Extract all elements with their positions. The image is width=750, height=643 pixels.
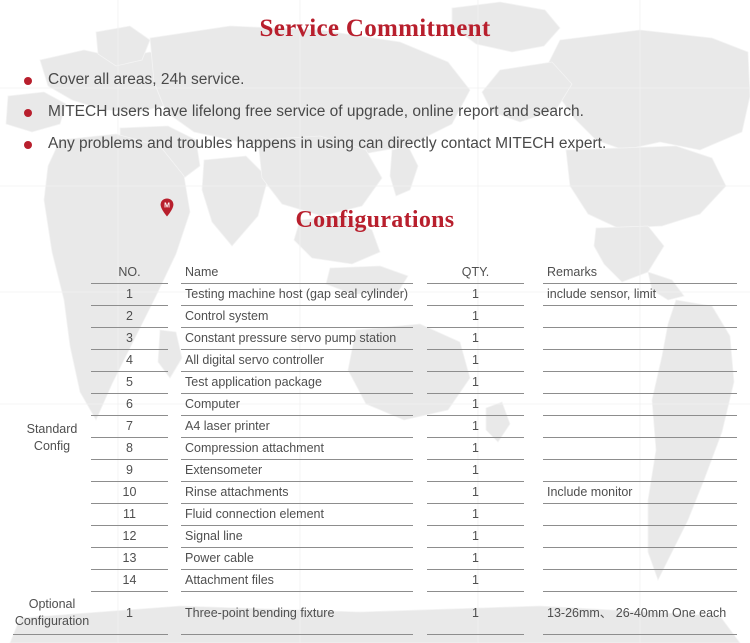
cell-name: Test application package	[181, 372, 413, 394]
spacer	[524, 570, 543, 592]
spacer	[168, 570, 181, 592]
service-commitment-list: Cover all areas, 24h service. MITECH use…	[24, 68, 724, 164]
cell-name: Control system	[181, 306, 413, 328]
spacer	[168, 592, 181, 635]
spacer	[413, 350, 427, 372]
cell-qty: 1	[427, 482, 524, 504]
cell-no: 10	[91, 482, 168, 504]
cell-no: 11	[91, 504, 168, 526]
cell-name: All digital servo controller	[181, 350, 413, 372]
spacer	[168, 504, 181, 526]
cell-qty: 1	[427, 570, 524, 592]
spacer	[524, 592, 543, 635]
spacer	[168, 284, 181, 306]
cell-remarks-text: 13-26mm、 26-40mm One each	[547, 592, 737, 634]
cell-name: Testing machine host (gap seal cylinder)	[181, 284, 413, 306]
column-header-no: NO.	[91, 262, 168, 284]
column-header-group	[13, 262, 91, 284]
list-item: MITECH users have lifelong free service …	[24, 100, 724, 124]
bullet-dot-icon	[24, 109, 32, 117]
spacer	[413, 372, 427, 394]
cell-remarks: Include monitor	[543, 482, 737, 504]
table-header: NO. Name QTY. Remarks	[13, 262, 737, 284]
cell-name: Three-point bending fixture	[181, 592, 413, 635]
spacer	[413, 526, 427, 548]
cell-remarks	[543, 416, 737, 438]
bullet-dot-icon	[24, 77, 32, 85]
cell-qty-text: 1	[427, 394, 524, 415]
spacer	[413, 262, 427, 284]
spacer	[168, 548, 181, 570]
cell-name-text: Fluid connection element	[185, 504, 413, 525]
cell-name: A4 laser printer	[181, 416, 413, 438]
cell-name-text: Control system	[185, 306, 413, 327]
spacer	[413, 306, 427, 328]
cell-no-text: 1	[91, 592, 168, 634]
spacer	[413, 460, 427, 482]
cell-qty: 1	[427, 350, 524, 372]
spacer	[413, 548, 427, 570]
cell-name: Rinse attachments	[181, 482, 413, 504]
cell-qty: 1	[427, 460, 524, 482]
spacer	[168, 372, 181, 394]
cell-no-text: 9	[91, 460, 168, 481]
cell-remarks	[543, 328, 737, 350]
cell-qty-text: 1	[427, 284, 524, 305]
list-item: Cover all areas, 24h service.	[24, 68, 724, 92]
cell-no: 1	[91, 284, 168, 306]
list-item: Any problems and troubles happens in usi…	[24, 132, 724, 156]
row-group-label: StandardConfig	[13, 284, 91, 592]
cell-no-text: 10	[91, 482, 168, 503]
cell-name-text: Rinse attachments	[185, 482, 413, 503]
cell-qty: 1	[427, 394, 524, 416]
table-row: StandardConfig1Testing machine host (gap…	[13, 284, 737, 306]
cell-no-text: 6	[91, 394, 168, 415]
spacer	[524, 372, 543, 394]
cell-remarks	[543, 372, 737, 394]
cell-qty: 1	[427, 284, 524, 306]
cell-remarks	[543, 548, 737, 570]
cell-no: 7	[91, 416, 168, 438]
cell-qty-text: 1	[427, 328, 524, 349]
table-row: OptionalConfiguration1Three-point bendin…	[13, 592, 737, 635]
cell-name: Attachment files	[181, 570, 413, 592]
cell-name-text: All digital servo controller	[185, 350, 413, 371]
cell-no-text: 5	[91, 372, 168, 393]
row-group-label-line2: Configuration	[13, 613, 91, 630]
cell-name-text: Three-point bending fixture	[185, 592, 413, 634]
table-row: 5Test application package1	[13, 372, 737, 394]
cell-name-text: Testing machine host (gap seal cylinder)	[185, 284, 413, 305]
cell-name-text: Signal line	[185, 526, 413, 547]
cell-remarks-text	[547, 548, 737, 569]
spacer	[168, 438, 181, 460]
list-item-text: Any problems and troubles happens in usi…	[48, 135, 606, 152]
spacer	[413, 504, 427, 526]
spacer	[524, 460, 543, 482]
cell-remarks-text	[547, 438, 737, 459]
cell-name: Compression attachment	[181, 438, 413, 460]
cell-no-text: 12	[91, 526, 168, 547]
list-item-text: MITECH users have lifelong free service …	[48, 103, 584, 120]
table-body: StandardConfig1Testing machine host (gap…	[13, 284, 737, 635]
cell-no: 6	[91, 394, 168, 416]
cell-name-text: Compression attachment	[185, 438, 413, 459]
spacer	[524, 394, 543, 416]
spacer	[168, 328, 181, 350]
table-row: 13Power cable1	[13, 548, 737, 570]
spacer	[413, 482, 427, 504]
cell-name-text: Power cable	[185, 548, 413, 569]
cell-qty-text: 1	[427, 548, 524, 569]
cell-remarks	[543, 394, 737, 416]
cell-remarks-text	[547, 394, 737, 415]
spacer	[168, 460, 181, 482]
table-header-row: NO. Name QTY. Remarks	[13, 262, 737, 284]
cell-remarks-text	[547, 526, 737, 547]
list-item-text: Cover all areas, 24h service.	[48, 71, 244, 88]
spacer	[524, 284, 543, 306]
column-header-remarks: Remarks	[543, 262, 737, 284]
cell-no-text: 11	[91, 504, 168, 525]
cell-qty: 1	[427, 592, 524, 635]
cell-no: 8	[91, 438, 168, 460]
cell-no: 1	[91, 592, 168, 635]
table-row: 11Fluid connection element1	[13, 504, 737, 526]
cell-qty: 1	[427, 438, 524, 460]
cell-qty: 1	[427, 548, 524, 570]
cell-no: 9	[91, 460, 168, 482]
cell-qty-text: 1	[427, 526, 524, 547]
bullet-dot-icon	[24, 141, 32, 149]
cell-no: 13	[91, 548, 168, 570]
cell-remarks-text: include sensor, limit	[547, 284, 737, 305]
cell-name-text: Test application package	[185, 372, 413, 393]
cell-remarks-text	[547, 504, 737, 525]
cell-no: 12	[91, 526, 168, 548]
spacer	[168, 416, 181, 438]
cell-qty-text: 1	[427, 460, 524, 481]
table-row: 8Compression attachment1	[13, 438, 737, 460]
table-row: 6Computer1	[13, 394, 737, 416]
cell-no-text: 3	[91, 328, 168, 349]
spacer	[413, 592, 427, 635]
spacer	[524, 548, 543, 570]
cell-qty: 1	[427, 416, 524, 438]
table-row: 2Control system1	[13, 306, 737, 328]
cell-no-text: 7	[91, 416, 168, 437]
cell-qty-text: 1	[427, 438, 524, 459]
cell-qty-text: 1	[427, 350, 524, 371]
cell-remarks	[543, 350, 737, 372]
cell-name-text: Extensometer	[185, 460, 413, 481]
cell-no: 5	[91, 372, 168, 394]
cell-name: Constant pressure servo pump station	[181, 328, 413, 350]
cell-name: Signal line	[181, 526, 413, 548]
spacer	[413, 438, 427, 460]
spacer	[524, 482, 543, 504]
cell-qty-text: 1	[427, 482, 524, 503]
spacer	[524, 438, 543, 460]
cell-name: Fluid connection element	[181, 504, 413, 526]
cell-remarks	[543, 570, 737, 592]
column-header-name: Name	[181, 262, 413, 284]
cell-qty-text: 1	[427, 416, 524, 437]
row-group-label-line2: Config	[13, 438, 91, 455]
cell-no-text: 4	[91, 350, 168, 371]
table-row: 4All digital servo controller1	[13, 350, 737, 372]
configurations-title: Configurations	[0, 206, 750, 235]
cell-qty: 1	[427, 372, 524, 394]
spacer	[524, 350, 543, 372]
column-header-qty: QTY.	[427, 262, 524, 284]
table-row: 12Signal line1	[13, 526, 737, 548]
cell-remarks-text	[547, 570, 737, 591]
spacer	[524, 306, 543, 328]
cell-no-text: 8	[91, 438, 168, 459]
cell-no: 2	[91, 306, 168, 328]
service-commitment-title: Service Commitment	[0, 14, 750, 44]
cell-no: 4	[91, 350, 168, 372]
cell-name-text: Computer	[185, 394, 413, 415]
cell-qty: 1	[427, 504, 524, 526]
spacer	[168, 526, 181, 548]
cell-remarks: 13-26mm、 26-40mm One each	[543, 592, 737, 635]
spacer	[168, 394, 181, 416]
table-row: 3Constant pressure servo pump station1	[13, 328, 737, 350]
cell-name: Computer	[181, 394, 413, 416]
cell-no: 14	[91, 570, 168, 592]
spacer	[413, 328, 427, 350]
spacer	[168, 262, 181, 284]
row-group-label: OptionalConfiguration	[13, 592, 91, 635]
cell-remarks	[543, 526, 737, 548]
cell-name: Extensometer	[181, 460, 413, 482]
row-group-label-line1: Optional	[13, 596, 91, 613]
spacer	[524, 526, 543, 548]
spacer	[413, 394, 427, 416]
spacer	[168, 482, 181, 504]
table-row: 7A4 laser printer1	[13, 416, 737, 438]
cell-remarks	[543, 306, 737, 328]
spacer	[524, 262, 543, 284]
spacer	[524, 416, 543, 438]
cell-name-text: Attachment files	[185, 570, 413, 591]
cell-remarks-text	[547, 372, 737, 393]
cell-qty-text: 1	[427, 504, 524, 525]
cell-remarks	[543, 460, 737, 482]
cell-name-text: A4 laser printer	[185, 416, 413, 437]
spacer	[168, 350, 181, 372]
cell-remarks	[543, 504, 737, 526]
cell-no-text: 1	[91, 284, 168, 305]
cell-name: Power cable	[181, 548, 413, 570]
spacer	[413, 416, 427, 438]
cell-remarks-text	[547, 306, 737, 327]
row-group-label-line1: Standard	[13, 421, 91, 438]
cell-remarks: include sensor, limit	[543, 284, 737, 306]
spacer	[524, 328, 543, 350]
table-row: 14Attachment files1	[13, 570, 737, 592]
configurations-table: NO. Name QTY. Remarks StandardCo	[13, 262, 737, 635]
cell-remarks	[543, 438, 737, 460]
page-root: Service Commitment Cover all areas, 24h …	[0, 0, 750, 643]
spacer	[524, 504, 543, 526]
cell-remarks-text	[547, 416, 737, 437]
cell-qty: 1	[427, 328, 524, 350]
spacer	[413, 284, 427, 306]
cell-remarks-text: Include monitor	[547, 482, 737, 503]
cell-no-text: 14	[91, 570, 168, 591]
table-row: 10Rinse attachments1Include monitor	[13, 482, 737, 504]
cell-no-text: 2	[91, 306, 168, 327]
spacer	[168, 306, 181, 328]
cell-remarks-text	[547, 328, 737, 349]
cell-qty-text: 1	[427, 570, 524, 591]
cell-remarks-text	[547, 350, 737, 371]
cell-no-text: 13	[91, 548, 168, 569]
cell-qty: 1	[427, 306, 524, 328]
cell-name-text: Constant pressure servo pump station	[185, 328, 413, 349]
cell-qty-text: 1	[427, 306, 524, 327]
cell-qty: 1	[427, 526, 524, 548]
cell-qty-text: 1	[427, 592, 524, 634]
cell-remarks-text	[547, 460, 737, 481]
spacer	[413, 570, 427, 592]
cell-qty-text: 1	[427, 372, 524, 393]
table-row: 9Extensometer1	[13, 460, 737, 482]
cell-no: 3	[91, 328, 168, 350]
